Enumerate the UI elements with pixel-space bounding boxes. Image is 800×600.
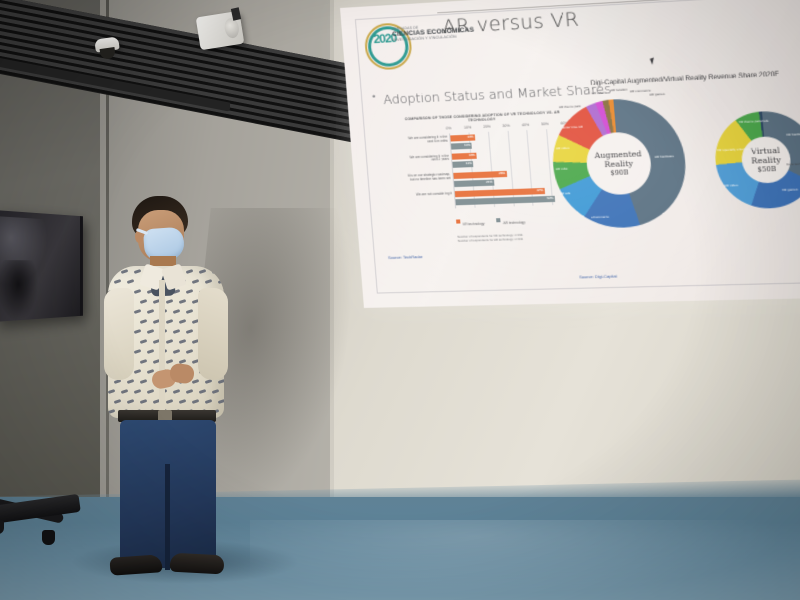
shirt-motif <box>186 289 194 294</box>
shirt-motif <box>212 269 220 274</box>
vr-label-hardware: VR hardware <box>786 133 800 137</box>
bar-chart-x-tick: 30% <box>502 124 510 128</box>
shirt-motif <box>140 359 148 364</box>
shirt-motif <box>108 269 115 274</box>
shirt-motif <box>134 389 142 394</box>
shirt-motif <box>186 389 194 394</box>
presenter-shoe-right <box>170 553 225 575</box>
shirt-motif <box>121 269 129 274</box>
shirt-motif <box>173 389 181 394</box>
bar-chart-category-label: We are not considering it <box>408 192 452 197</box>
shirt-motif <box>127 399 135 404</box>
bar-chart-category-label: It is on our strategic roadmap, but no t… <box>407 173 451 182</box>
bar-chart-bar: 13% <box>450 134 475 142</box>
bar-chart-value-label: 13% <box>467 134 474 138</box>
shirt-motif <box>114 279 122 284</box>
ar-label-ecommerce: eCommerce <box>591 216 609 220</box>
shirt-motif <box>147 329 155 334</box>
shirt-motif <box>205 399 213 404</box>
shirt-motif <box>134 329 142 334</box>
shirt-motif <box>192 279 200 284</box>
shirt-motif <box>166 299 174 304</box>
shirt-motif <box>114 399 122 404</box>
shirt-motif <box>134 349 142 354</box>
legend-label: VR technology <box>462 222 484 227</box>
bar-chart-x-tick: 10% <box>464 125 472 129</box>
shirt-motif <box>140 399 148 404</box>
bar-chart-value-label: 28% <box>499 171 506 175</box>
shirt-motif <box>140 339 148 344</box>
bar-chart-x-tick: 20% <box>483 125 491 129</box>
shirt-motif <box>147 349 155 354</box>
wall-mounted-tv <box>0 210 83 322</box>
bar-chart-value-label: 52% <box>547 196 554 200</box>
shirt-motif <box>166 399 174 404</box>
shirt-motif <box>173 329 181 334</box>
bar-chart-x-tick: 0% <box>446 126 452 130</box>
shirt-motif <box>192 379 200 384</box>
shirt-motif <box>186 269 194 274</box>
bar-chart-bar: 28% <box>453 170 507 179</box>
presenter-shoe-left <box>109 554 162 576</box>
shirt-motif <box>166 319 174 324</box>
bar-chart-value-label: 47% <box>537 188 544 192</box>
shirt-motif <box>199 389 207 394</box>
shirt-motif <box>134 269 142 274</box>
shirt-motif <box>166 359 174 364</box>
projection-screen: 2020 JORNADAS DE CIENCIAS ECONÓMICAS INV… <box>340 8 800 328</box>
bar-chart-bar: 21% <box>454 179 494 187</box>
presenter-arm-left <box>104 288 134 380</box>
bar-chart-bar: 13% <box>452 153 477 160</box>
shirt-motif <box>140 319 148 324</box>
bar-chart-value-label: 11% <box>466 161 473 165</box>
shirt-motif <box>179 319 187 324</box>
bar-chart-bar: 52% <box>455 196 555 206</box>
ar-center-value: $90B <box>610 168 629 177</box>
shirt-motif <box>218 379 224 384</box>
bar-chart-value-label: 13% <box>468 153 475 157</box>
shirt-motif <box>166 339 174 344</box>
tv-reflection <box>0 260 38 322</box>
shirt-motif <box>140 379 148 384</box>
ar-label-others: AR others <box>592 91 607 95</box>
jeans-leg-split <box>165 464 170 570</box>
shirt-motif <box>186 349 194 354</box>
ar-label-games: AR games <box>649 93 665 97</box>
shirt-motif <box>218 399 224 404</box>
legend-swatch <box>497 218 501 222</box>
shirt-motif <box>173 349 181 354</box>
shirt-motif <box>127 379 135 384</box>
shirt-motif <box>179 299 187 304</box>
shirt-motif <box>140 299 148 304</box>
bar-chart-bar: 11% <box>451 142 472 149</box>
shirt-motif <box>199 269 207 274</box>
bar-chart-x-tick: 40% <box>522 123 530 127</box>
shirt-placket <box>159 280 165 416</box>
shirt-motif <box>192 399 200 404</box>
shirt-motif <box>147 309 155 314</box>
bar-chart-value-label: 21% <box>486 179 493 183</box>
ar-label-hardware: AR hardware <box>654 155 674 159</box>
shirt-motif <box>134 309 142 314</box>
bar-chart-bar: 11% <box>452 161 473 168</box>
bar-chart-legend-item: AR technology <box>496 210 526 229</box>
bar-chart-x-tick: 50% <box>541 122 549 126</box>
shirt-motif <box>147 389 155 394</box>
bar-chart-category-label: We are considering it in the next 6 mont… <box>404 136 448 146</box>
shirt-motif <box>108 409 115 414</box>
ar-label-ads: AR ads <box>560 192 571 196</box>
vr-center-line-2: Reality <box>751 155 781 166</box>
source-donut-chart[interactable]: Source: Digi-Capital <box>579 273 617 279</box>
shirt-motif <box>212 389 220 394</box>
shirt-motif <box>134 369 142 374</box>
legend-label: AR technology <box>503 220 526 225</box>
shirt-motif <box>134 289 142 294</box>
bar-chart-legend-item: VR technology <box>455 212 485 231</box>
ar-label-video: AR video <box>556 147 569 151</box>
bar-chart-category-label: We are considering it in the next 2 year… <box>405 154 449 163</box>
shirt-motif <box>179 339 187 344</box>
shirt-motif <box>173 309 181 314</box>
vr-label-video: VR video <box>724 184 738 188</box>
chair-caster <box>42 530 55 545</box>
vr-center-value: $50B <box>757 165 776 174</box>
bar-chart-legend: VR technologyAR technology <box>455 209 573 231</box>
legend-swatch <box>456 219 460 223</box>
shirt-motif <box>186 329 194 334</box>
bar-chart-value-label: 11% <box>464 143 471 147</box>
source-bar-chart[interactable]: Source: TechRadar <box>388 254 423 260</box>
bar-chart: COMPARISON OF THOSE CONSIDERING ADOPTION… <box>401 110 573 236</box>
vr-label-coretech: Core technology <box>786 162 800 167</box>
shirt-motif <box>218 279 224 284</box>
shirt-motif <box>121 389 129 394</box>
ar-label-mande: AR m&e <box>556 167 568 171</box>
floor-sheen <box>250 520 800 600</box>
shirt-motif <box>205 279 213 284</box>
photo-scene: 2020 JORNADAS DE CIENCIAS ECONÓMICAS INV… <box>0 0 800 600</box>
shirt-motif <box>127 279 135 284</box>
presentation-slide: 2020 JORNADAS DE CIENCIAS ECONÓMICAS INV… <box>340 0 800 308</box>
shirt-motif <box>186 309 194 314</box>
shirt-motif <box>108 389 115 394</box>
vr-label-games: VR games <box>782 188 798 192</box>
presenter-arm-right <box>198 288 228 380</box>
bar-chart-row: We are not considering it47%52% <box>455 185 572 208</box>
presenter <box>96 196 236 566</box>
shirt-motif <box>179 399 187 404</box>
